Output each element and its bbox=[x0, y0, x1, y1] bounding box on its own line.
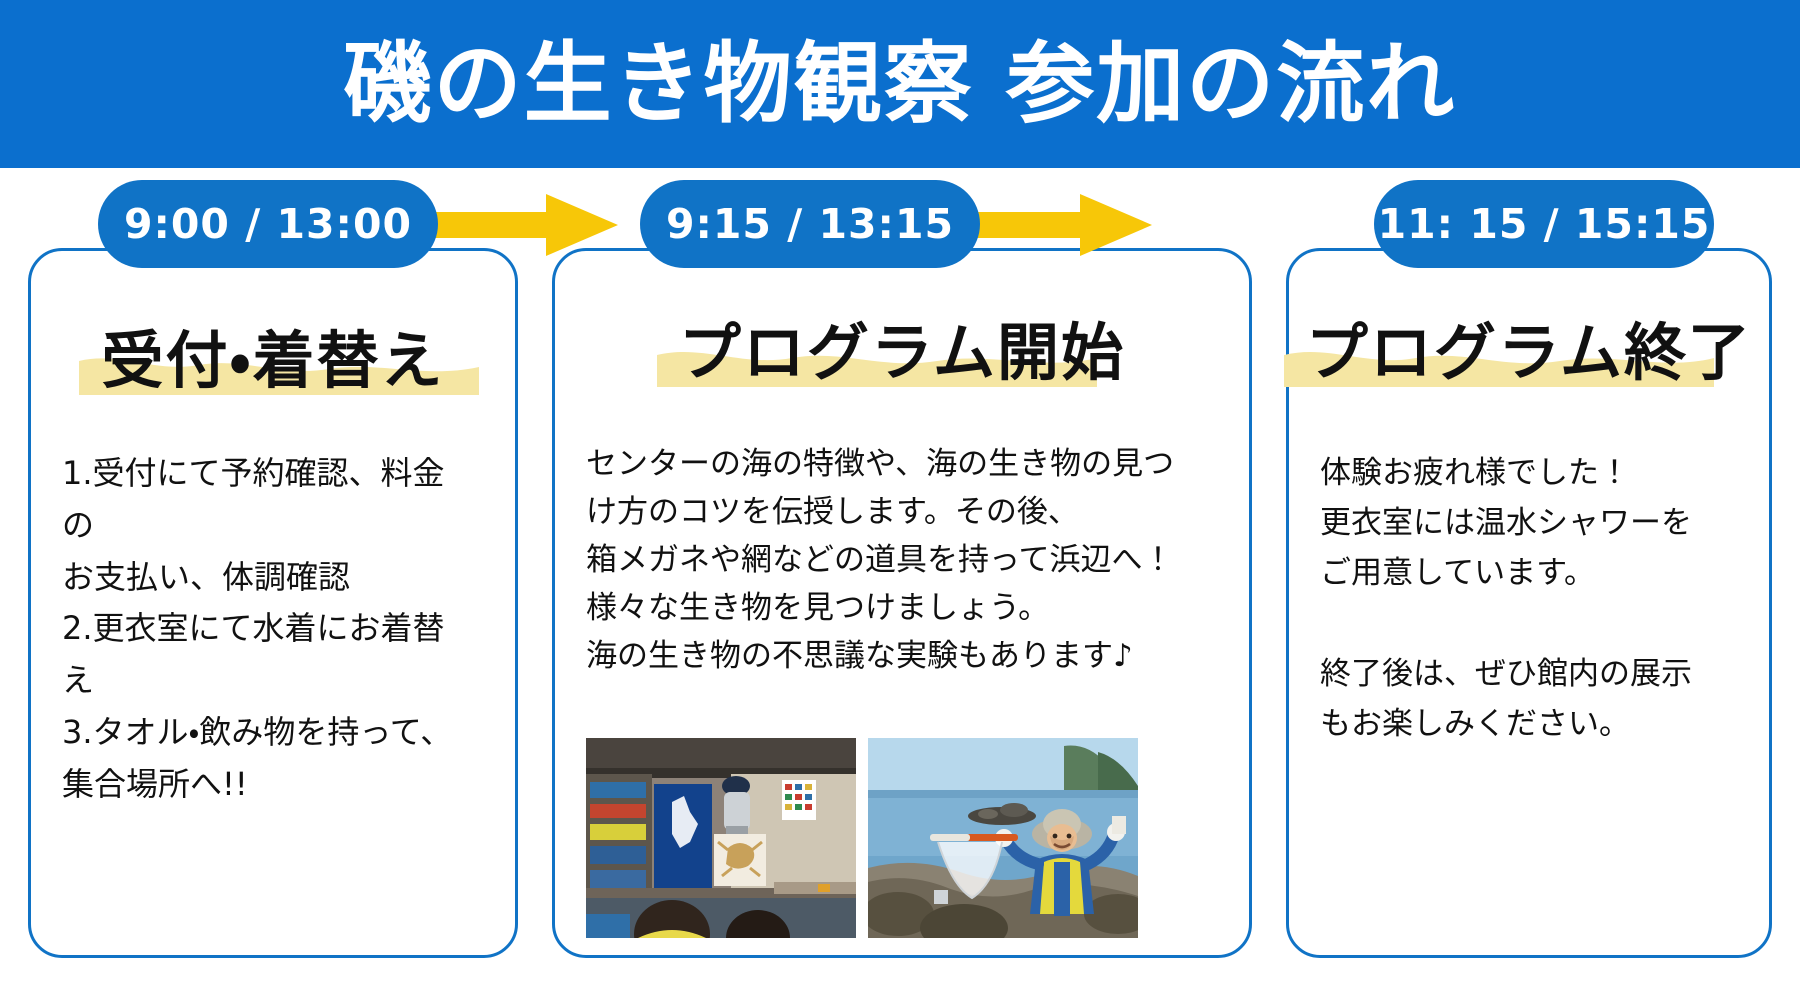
arrow-step1-to-step2-icon bbox=[418, 192, 618, 258]
title-banner: 磯の生き物観察 参加の流れ bbox=[0, 0, 1800, 168]
step-2-heading-wrap: プログラム開始 bbox=[552, 320, 1252, 385]
time-pill-3: 11: 15 / 15:15 bbox=[1374, 180, 1714, 268]
time-pill-1: 9:00 / 13:00 bbox=[98, 180, 438, 268]
step-1-heading-wrap: 受付・着替え bbox=[28, 328, 518, 393]
step-1-body: 1.受付にて予約確認、料金の お支払い、体調確認 2.更衣室にて水着にお着替え … bbox=[62, 448, 472, 811]
page-title: 磯の生き物観察 参加の流れ bbox=[344, 40, 1457, 128]
time-pill-2: 9:15 / 13:15 bbox=[640, 180, 980, 268]
step-2-body: センターの海の特徴や、海の生き物の見つ け方のコツを伝授します。その後、 箱メガ… bbox=[586, 440, 1226, 680]
step-3-heading-wrap: プログラム終了 bbox=[1286, 320, 1772, 385]
step-2-heading: プログラム開始 bbox=[679, 316, 1125, 389]
step-3-heading: プログラム終了 bbox=[1306, 316, 1752, 389]
step-3-body: 体験お疲れ様でした！ 更衣室には温水シャワーを ご用意しています。 終了後は、ぜ… bbox=[1320, 448, 1740, 749]
beach-net-photo bbox=[868, 738, 1138, 938]
arrow-step2-to-step3-icon bbox=[952, 192, 1152, 258]
step-2-photo-gallery bbox=[586, 738, 1138, 938]
step-1-heading: 受付・着替え bbox=[101, 324, 444, 397]
indoor-lecture-photo bbox=[586, 738, 856, 938]
